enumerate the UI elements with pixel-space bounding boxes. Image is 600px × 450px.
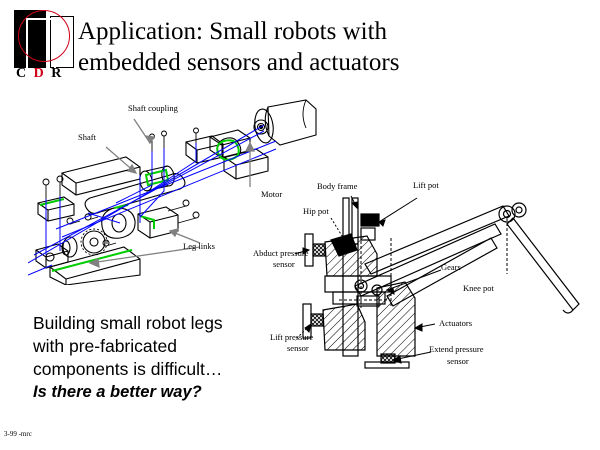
title-line-2: embedded sensors and actuators	[78, 47, 578, 78]
logo-letter-r: R	[51, 66, 63, 81]
label-body-frame: Body frame	[317, 181, 357, 191]
label-gears: Gears	[441, 262, 461, 272]
label-abduct-sensor: sensor	[273, 259, 295, 269]
label-abduct-pressure: Abduct pressure	[253, 248, 308, 258]
logo-letter-c: C	[16, 66, 28, 81]
label-shaft-coupling: Shaft coupling	[128, 103, 178, 113]
slide: C D R Application: Small robots with emb…	[0, 0, 600, 450]
page-title: Application: Small robots with embedded …	[78, 16, 578, 78]
label-lift-sensor: sensor	[287, 343, 309, 353]
label-shaft: Shaft	[78, 132, 96, 142]
label-hip-pot: Hip pot	[303, 206, 329, 216]
label-extend-pressure: Extend pressure	[429, 344, 484, 354]
label-lift-pot: Lift pot	[413, 180, 439, 190]
label-extend-sensor: sensor	[447, 356, 469, 366]
label-knee-pot: Knee pot	[463, 283, 494, 293]
body-line-1: Building small robot legs	[33, 312, 283, 335]
cross-section-outlines	[303, 198, 579, 368]
label-motor: Motor	[261, 189, 282, 199]
label-leg-links: Leg links	[183, 241, 215, 251]
logo-letter-d: D	[34, 66, 46, 81]
body-line-2: with pre-fabricated	[33, 335, 283, 358]
body-question: Is there a better way?	[33, 381, 283, 404]
footer-note: 3-99 -mrc	[4, 430, 32, 438]
title-line-1: Application: Small robots with	[78, 16, 578, 47]
cdr-logo: C D R	[6, 8, 68, 86]
logo-circle-icon	[18, 10, 70, 62]
right-diagram: Body frame Lift pot Hip pot Abduct press…	[295, 178, 585, 373]
body-line-3: components is difficult…	[33, 358, 283, 381]
body-text-block: Building small robot legs with pre-fabri…	[33, 312, 283, 404]
label-actuators: Actuators	[439, 318, 472, 328]
logo-letters: C D R	[16, 66, 76, 82]
